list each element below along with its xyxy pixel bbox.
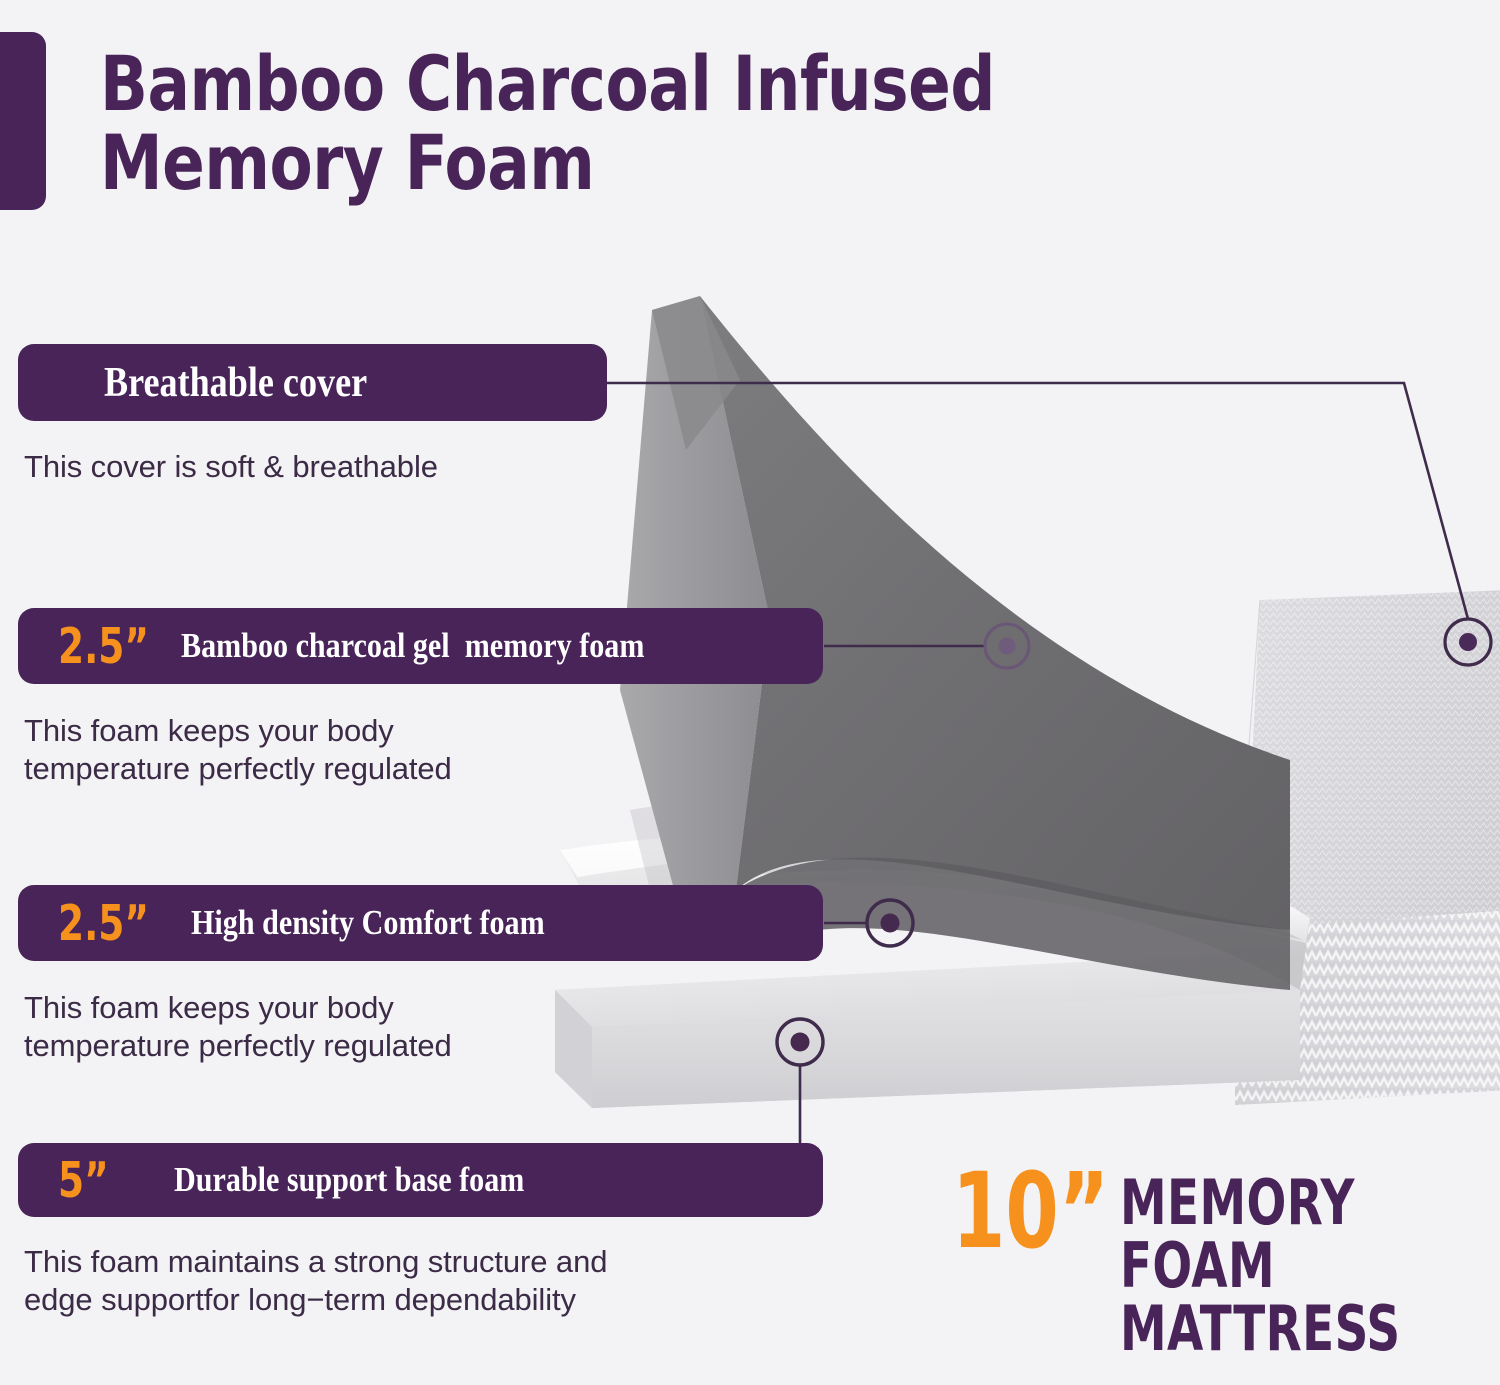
description-high-density-comfort-foam: This foam keeps your body temperature pe… — [24, 989, 452, 1065]
title-accent-bar — [0, 32, 46, 210]
callout-durable-support-base-foam: 5” Durable support base foam This foam m… — [0, 1143, 860, 1217]
badge-measure-high-density-comfort-foam: 2.5” — [58, 895, 149, 952]
page-title: Bamboo Charcoal Infused Memory Foam — [100, 44, 1075, 202]
callout-bamboo-charcoal-gel: 2.5” Bamboo charcoal gel memory foam Thi… — [0, 608, 860, 684]
callout-high-density-comfort-foam: 2.5” High density Comfort foam This foam… — [0, 885, 860, 961]
spec-size-label: 10” — [952, 1163, 1109, 1261]
badge-measure-durable-support-base-foam: 5” — [58, 1152, 109, 1209]
badge-label-high-density-comfort-foam: High density Comfort foam — [191, 903, 545, 943]
badge-bamboo-charcoal-gel[interactable]: 2.5” Bamboo charcoal gel memory foam — [18, 608, 823, 684]
badge-label-bamboo-charcoal-gel: Bamboo charcoal gel memory foam — [181, 626, 644, 666]
badge-durable-support-base-foam[interactable]: 5” Durable support base foam — [18, 1143, 823, 1217]
description-breathable-cover: This cover is soft & breathable — [24, 448, 438, 486]
badge-high-density-comfort-foam[interactable]: 2.5” High density Comfort foam — [18, 885, 823, 961]
infographic-page: Bamboo Charcoal Infused Memory Foam — [0, 0, 1500, 1385]
callout-breathable-cover: Breathable cover This cover is soft & br… — [0, 344, 640, 421]
description-durable-support-base-foam: This foam maintains a strong structure a… — [24, 1243, 607, 1319]
badge-measure-bamboo-charcoal-gel: 2.5” — [58, 618, 149, 675]
mattress-spec-summary: 10” MEMORY FOAM MATTRESS — [952, 1163, 1500, 1361]
badge-breathable-cover[interactable]: Breathable cover — [18, 344, 607, 421]
description-bamboo-charcoal-gel: This foam keeps your body temperature pe… — [24, 712, 452, 788]
badge-label-breathable-cover: Breathable cover — [104, 359, 367, 407]
spec-product-name: MEMORY FOAM MATTRESS — [1120, 1163, 1439, 1361]
mattress-layers-illustration — [500, 290, 1500, 1110]
badge-label-durable-support-base-foam: Durable support base foam — [174, 1160, 524, 1200]
